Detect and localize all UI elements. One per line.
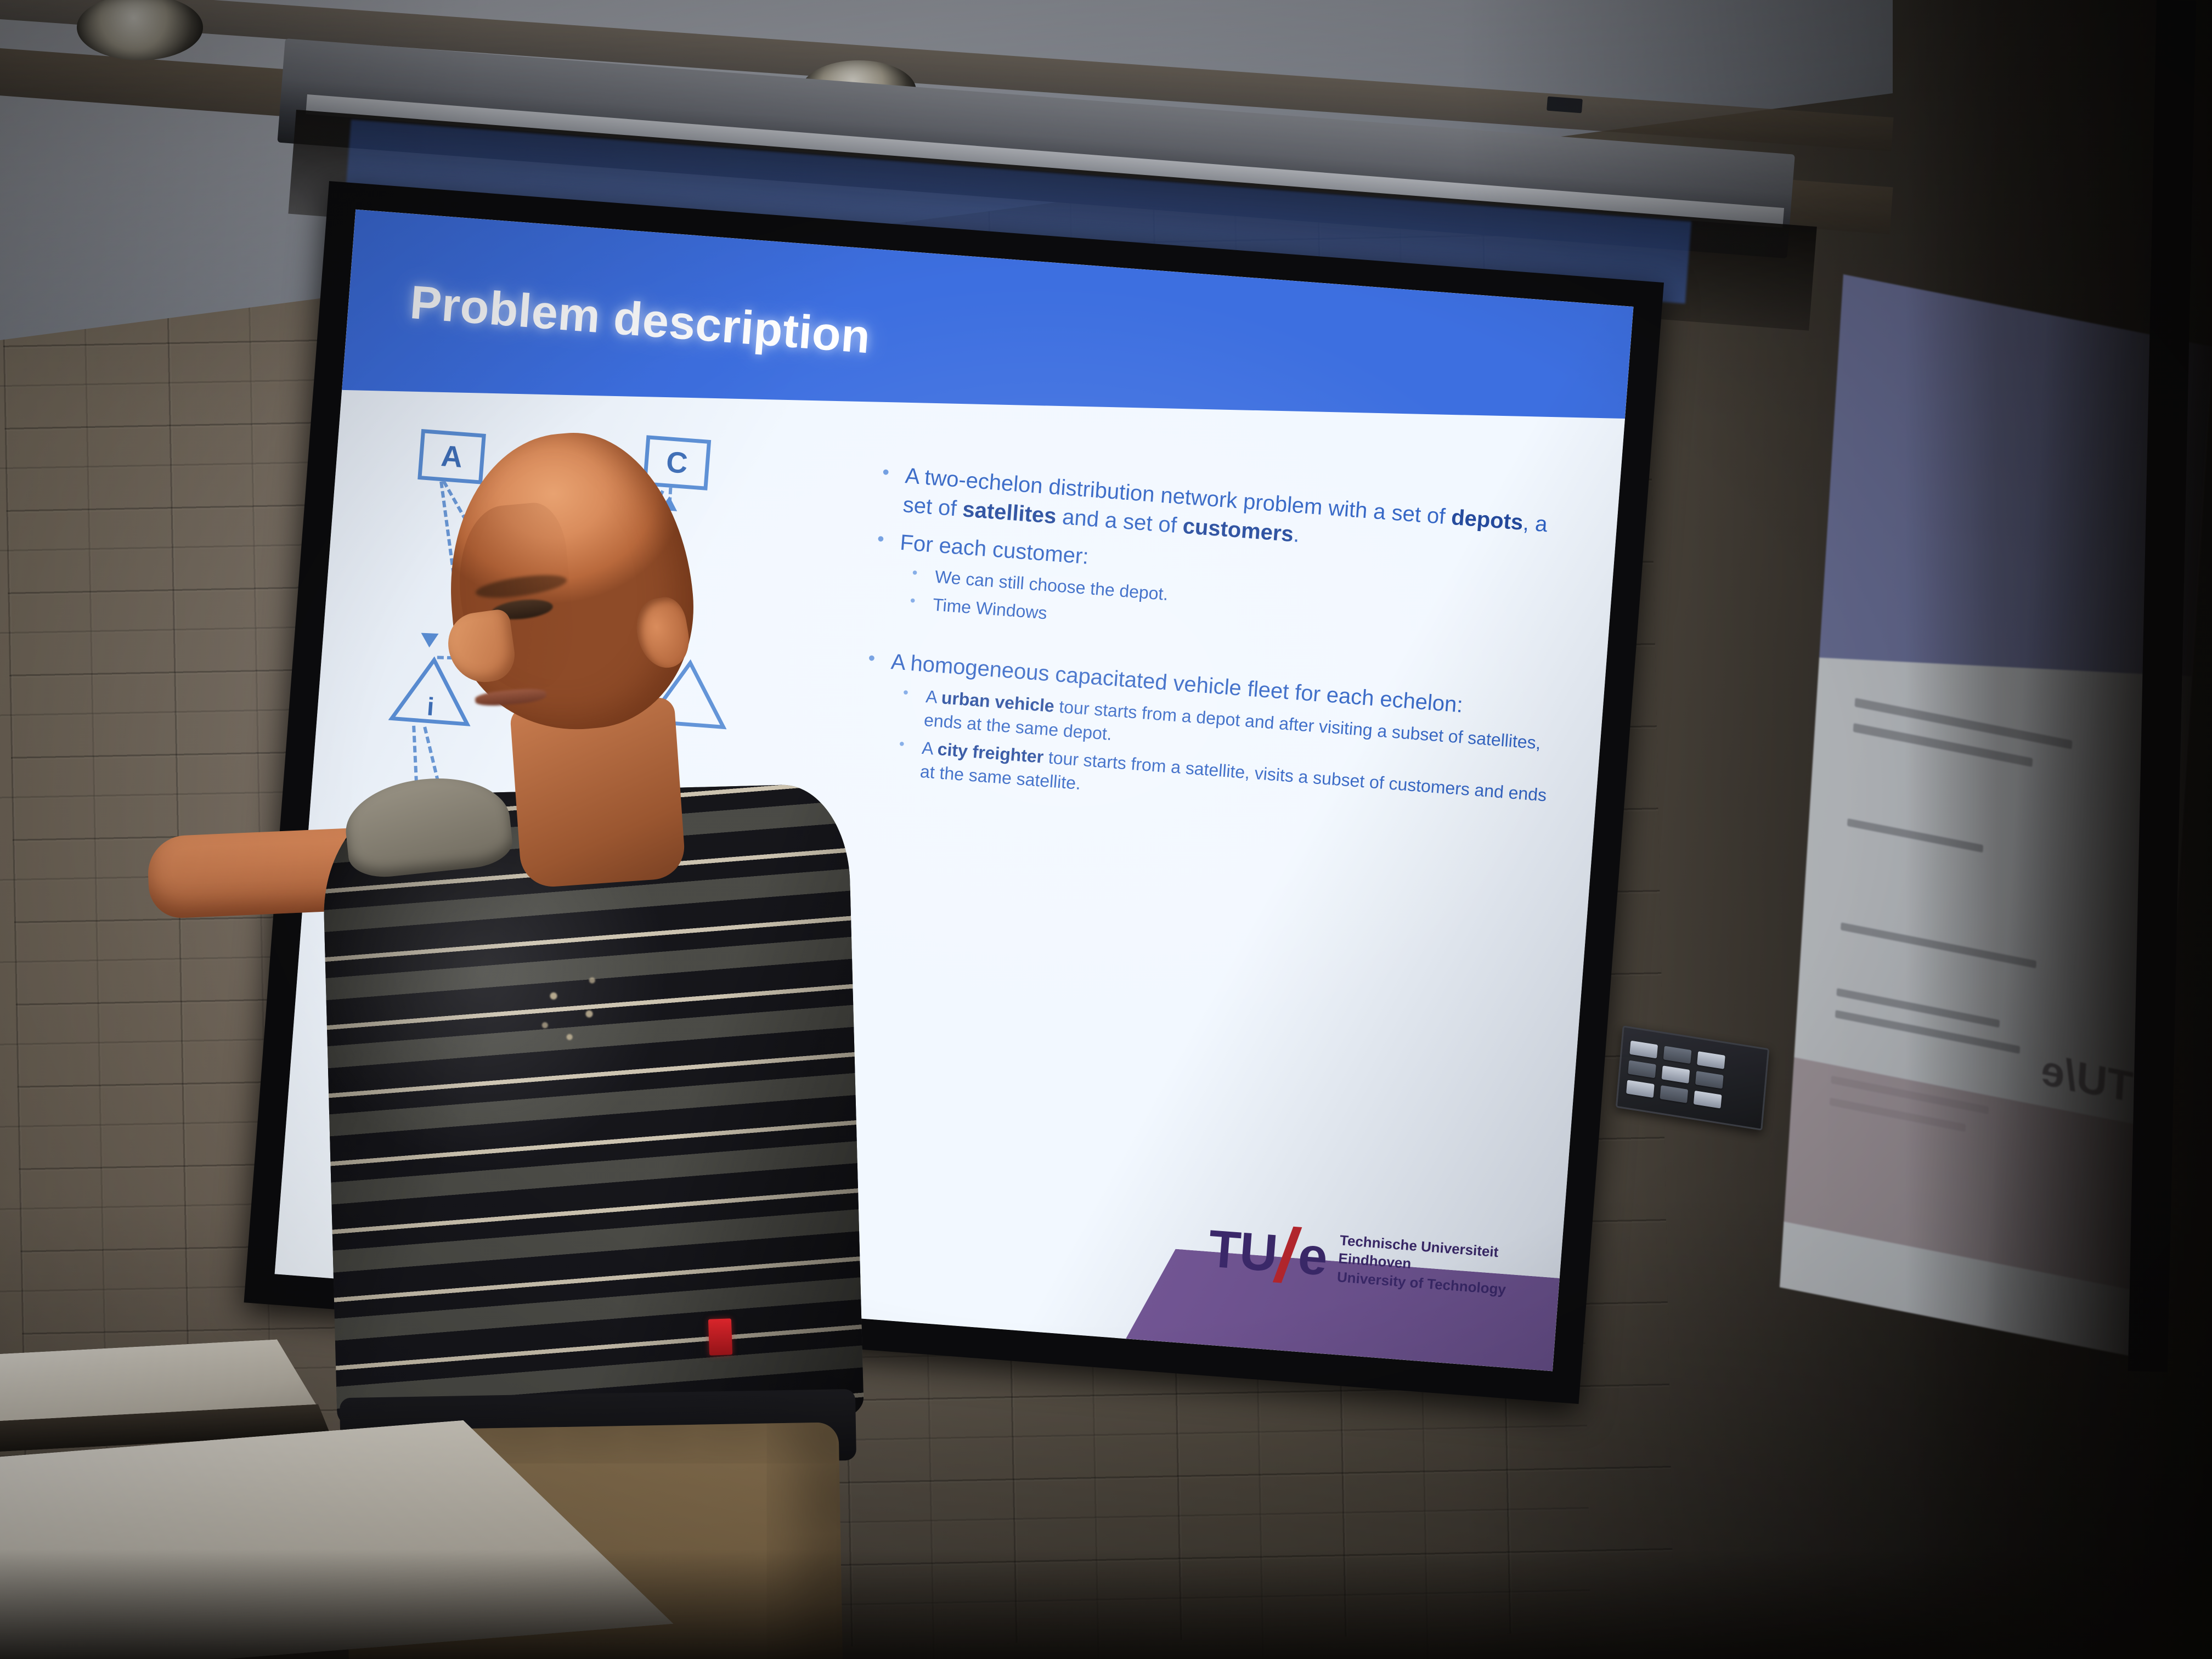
floor-shadow xyxy=(0,1549,2212,1659)
bullet-text-part: . xyxy=(1293,522,1300,547)
trouser-brand-tab xyxy=(708,1318,732,1355)
control-panel-button[interactable] xyxy=(1626,1080,1655,1098)
control-panel-button[interactable] xyxy=(1697,1051,1725,1069)
bullet-text-bold: depots xyxy=(1451,505,1524,535)
bullet-text-part: and a set of xyxy=(1056,504,1184,538)
tue-logo-mark: TU e xyxy=(1206,1218,1329,1288)
tue-logo-tu: TU xyxy=(1206,1218,1279,1284)
sweater-chest-embroidery xyxy=(496,935,639,1078)
control-panel-button[interactable] xyxy=(1695,1071,1724,1089)
tue-logo-e: e xyxy=(1296,1226,1329,1288)
control-panel-button[interactable] xyxy=(1660,1085,1688,1103)
control-panel-button[interactable] xyxy=(1663,1046,1692,1064)
control-panel-button[interactable] xyxy=(1694,1091,1722,1109)
diagram-node-depot-a: A xyxy=(417,429,486,484)
control-panel-button[interactable] xyxy=(1628,1060,1656,1079)
sweater-collar xyxy=(341,771,515,881)
control-panel-button[interactable] xyxy=(1662,1065,1690,1084)
bullet-text-bold: customers xyxy=(1182,514,1294,546)
right-wall-shadow xyxy=(1905,0,2212,1659)
tue-logo-wordmark: Technische Universiteit Eindhoven Univer… xyxy=(1336,1231,1509,1299)
control-panel-button[interactable] xyxy=(1629,1041,1658,1059)
lecture-room: Problem description A C xyxy=(0,0,2212,1659)
